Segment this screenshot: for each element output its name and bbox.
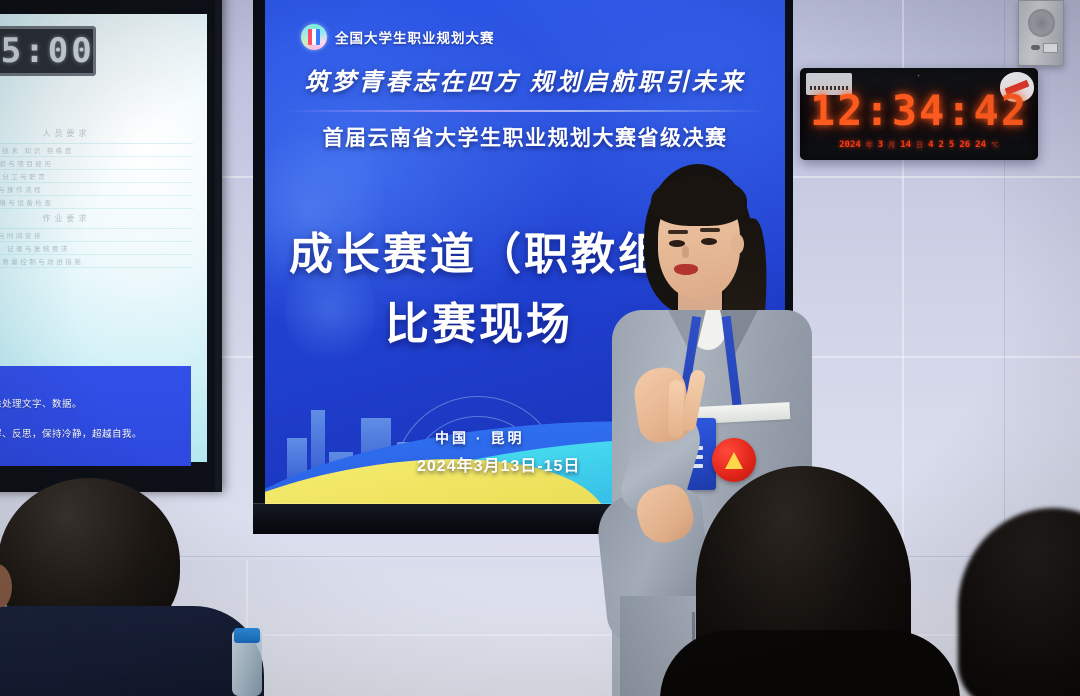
- contest-subtitle: 首届云南省大学生职业规划大赛省级决赛: [275, 122, 775, 152]
- countdown-timer: 05:00: [0, 26, 96, 76]
- table-row: 4 现场环境与设备检查: [0, 196, 193, 209]
- row-text: 安全规范与操作流程: [0, 184, 193, 194]
- presenter-finger: [668, 380, 684, 438]
- clock-date-value: 2: [938, 140, 943, 150]
- row-text: 4 现场环境与设备检查: [0, 197, 193, 207]
- table-row: 成果验收 质量控制与改进措施: [0, 255, 193, 268]
- speaker-knob-icon: [1031, 45, 1040, 50]
- wall-clock: • 12:34:42 2024 年 3 月 14 日 4 2 5 26 24 ℃: [800, 68, 1038, 160]
- left-monitor: 05:00 人员要求 1 专业能力 技术 知识 熟练度 2 1 工作经验与项目经…: [0, 0, 222, 492]
- presenter-eyebrow: [668, 230, 688, 234]
- ceiling-speaker: [1018, 0, 1064, 66]
- table-row: 3 安全规范与操作流程: [0, 183, 193, 196]
- presenter-ear: [731, 234, 744, 254]
- presenter-lips: [674, 264, 698, 275]
- presenter-emblem-icon: [712, 438, 756, 482]
- clock-date-value: 5: [949, 140, 954, 150]
- callout-line-2: 自我、调解、反思，保持冷静，超越自我。: [0, 426, 185, 440]
- left-monitor-screen: 05:00 人员要求 1 专业能力 技术 知识 熟练度 2 1 工作经验与项目经…: [0, 14, 207, 462]
- table-row: 2 1 工作经验与项目经历: [0, 157, 193, 170]
- contest-logo-row: 全国大学生职业规划大赛: [301, 24, 495, 50]
- audience-silhouette-1-body: [660, 630, 960, 696]
- requirements-table: 人员要求 1 专业能力 技术 知识 熟练度 2 1 工作经验与项目经历 任务 明…: [0, 124, 193, 268]
- clock-date-value: 4: [928, 140, 933, 150]
- presenter-eyebrow: [700, 228, 720, 232]
- clock-date-unit: 日: [916, 140, 923, 150]
- clock-date-unit: ℃: [991, 141, 999, 149]
- table-row: 2 执行标准、记录与复核要求: [0, 242, 193, 255]
- clock-brand-label: •: [917, 74, 920, 80]
- clock-date-display: 2024 年 3 月 14 日 4 2 5 26 24 ℃: [800, 140, 1038, 150]
- callout-line-1: 流程：熟悉处理文字、数据。: [0, 396, 185, 410]
- left-monitor-callout: 流程：熟悉处理文字、数据。 自我、调解、反思，保持冷静，超越自我。: [0, 366, 191, 466]
- row-text: 1 工作经验与项目经历: [0, 158, 193, 168]
- event-place: 中国 · 昆明: [435, 428, 524, 448]
- table-section-title-2: 作业要求: [0, 209, 193, 229]
- table-row: 1 工作计划与时间安排: [0, 229, 193, 242]
- presenter-eye: [701, 238, 717, 245]
- presenter-fringe: [651, 176, 747, 226]
- water-bottle-cap: [234, 628, 260, 643]
- clock-date-value: 2024: [839, 140, 861, 150]
- clock-date-unit: 年: [866, 140, 873, 150]
- table-section-title-1: 人员要求: [0, 124, 193, 144]
- row-text: 成果验收 质量控制与改进措施: [0, 256, 193, 266]
- contest-org-name: 全国大学生职业规划大赛: [335, 27, 495, 47]
- audience-suit-shoulders: [0, 606, 264, 696]
- row-text: 专业能力 技术 知识 熟练度: [0, 145, 193, 155]
- clock-time-display: 12:34:42: [800, 86, 1038, 135]
- clock-date-value: 26: [959, 140, 970, 150]
- header-divider: [283, 110, 767, 112]
- clock-date-unit: 月: [888, 140, 895, 150]
- presenter-nose: [682, 246, 689, 258]
- contest-logo-icon: [301, 24, 327, 50]
- speaker-plate: [1043, 43, 1058, 53]
- clock-date-value: 14: [900, 140, 911, 150]
- clock-date-value: 3: [878, 140, 883, 150]
- row-text: 工作计划与时间安排: [0, 230, 193, 240]
- speaker-grille-icon: [1028, 9, 1055, 37]
- row-text: 执行标准、记录与复核要求: [0, 243, 193, 253]
- row-text: 任务 明确分工与职责: [0, 171, 193, 181]
- contest-slogan: 筑梦青春志在四方 规划启航职引未来: [289, 62, 761, 97]
- event-date: 2024年3月13日-15日: [417, 452, 580, 476]
- table-row: 1 专业能力 技术 知识 熟练度: [0, 144, 193, 157]
- clock-date-value: 24: [975, 140, 986, 150]
- screenshot-root: 全国大学生职业规划大赛 筑梦青春志在四方 规划启航职引未来 首届云南省大学生职业…: [0, 0, 1080, 696]
- table-row: 任务 明确分工与职责: [0, 170, 193, 183]
